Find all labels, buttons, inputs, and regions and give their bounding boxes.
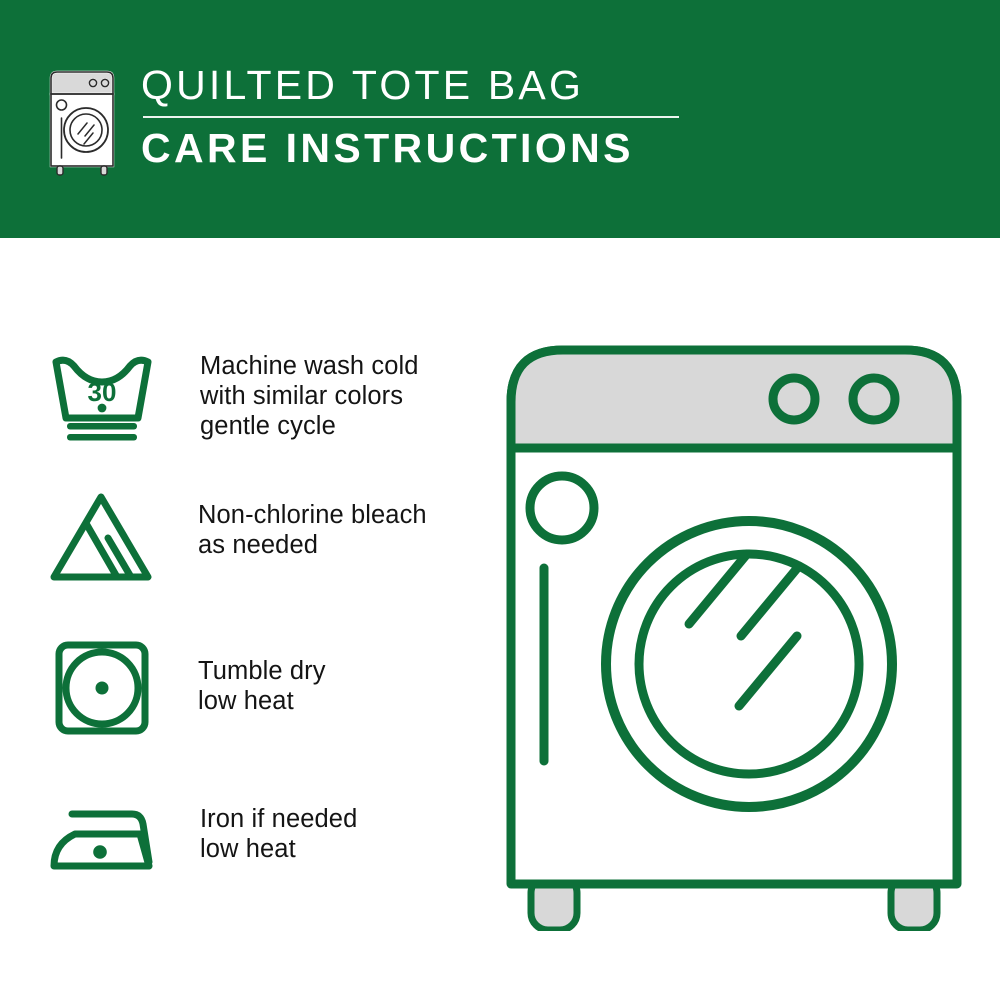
tumble-dry-low-icon bbox=[48, 636, 160, 740]
wash-temperature-value: 30 bbox=[88, 377, 117, 407]
page-subtitle: CARE INSTRUCTIONS bbox=[141, 125, 679, 171]
washer-control-panel bbox=[511, 350, 957, 448]
care-row-iron: Iron if needed low heat bbox=[48, 790, 357, 894]
header-title-block: QUILTED TOTE BAG CARE INSTRUCTIONS bbox=[141, 62, 679, 171]
washing-machine-icon bbox=[45, 68, 119, 178]
non-chlorine-bleach-triangle-icon bbox=[48, 483, 160, 587]
wash-tub-30-icon: 30 bbox=[48, 342, 160, 446]
page-title: QUILTED TOTE BAG bbox=[141, 62, 679, 108]
care-label-bleach: Non-chlorine bleach as needed bbox=[198, 500, 427, 560]
header-banner: QUILTED TOTE BAG CARE INSTRUCTIONS bbox=[0, 0, 1000, 238]
front-load-washing-machine-illustration bbox=[494, 336, 974, 931]
care-instruction-list: 30 Machine wash cold with similar colors… bbox=[0, 238, 470, 1000]
care-instructions-infographic: QUILTED TOTE BAG CARE INSTRUCTIONS 30 bbox=[0, 0, 1000, 1000]
iron-low-heat-icon bbox=[48, 790, 160, 894]
title-divider bbox=[143, 116, 679, 118]
header-content: QUILTED TOTE BAG CARE INSTRUCTIONS bbox=[45, 62, 679, 178]
care-label-tumble-dry: Tumble dry low heat bbox=[198, 656, 326, 716]
care-row-bleach: Non-chlorine bleach as needed bbox=[48, 483, 427, 587]
care-row-tumble-dry: Tumble dry low heat bbox=[48, 636, 326, 740]
care-row-machine-wash: 30 Machine wash cold with similar colors… bbox=[48, 342, 419, 446]
care-label-iron: Iron if needed low heat bbox=[200, 804, 357, 864]
care-label-machine-wash: Machine wash cold with similar colors ge… bbox=[200, 351, 419, 441]
